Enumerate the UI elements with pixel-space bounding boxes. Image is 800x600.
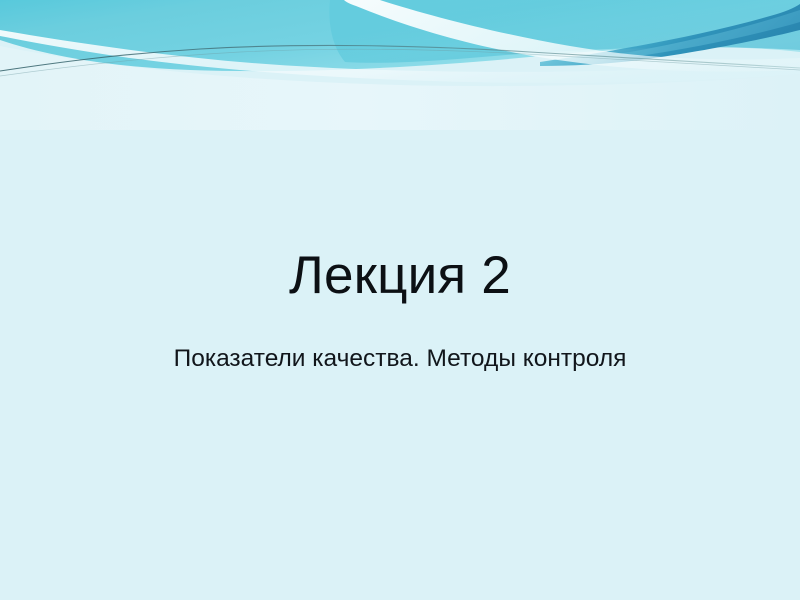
subtitle-placeholder: Показатели качества. Методы контроля [0, 344, 800, 373]
title-slide: Лекция 2 Показатели качества. Методы кон… [0, 0, 800, 600]
wave-teal-base [0, 0, 800, 71]
wave-blue-band [540, 4, 800, 66]
wave-ribbon-banner [0, 0, 800, 130]
wave-blue-accent [600, 10, 800, 60]
page-subtitle: Показатели качества. Методы контроля [0, 344, 800, 373]
wave-white-ribbon-lower [0, 30, 800, 83]
wave-white-ribbon-upper [344, 0, 800, 72]
wave-teal-secondary [329, 0, 800, 63]
title-placeholder: Лекция 2 [0, 246, 800, 305]
page-title: Лекция 2 [0, 246, 800, 305]
wave-hairline-secondary [0, 49, 800, 76]
wave-hairline [0, 45, 800, 71]
wave-lower-fill [0, 46, 800, 130]
